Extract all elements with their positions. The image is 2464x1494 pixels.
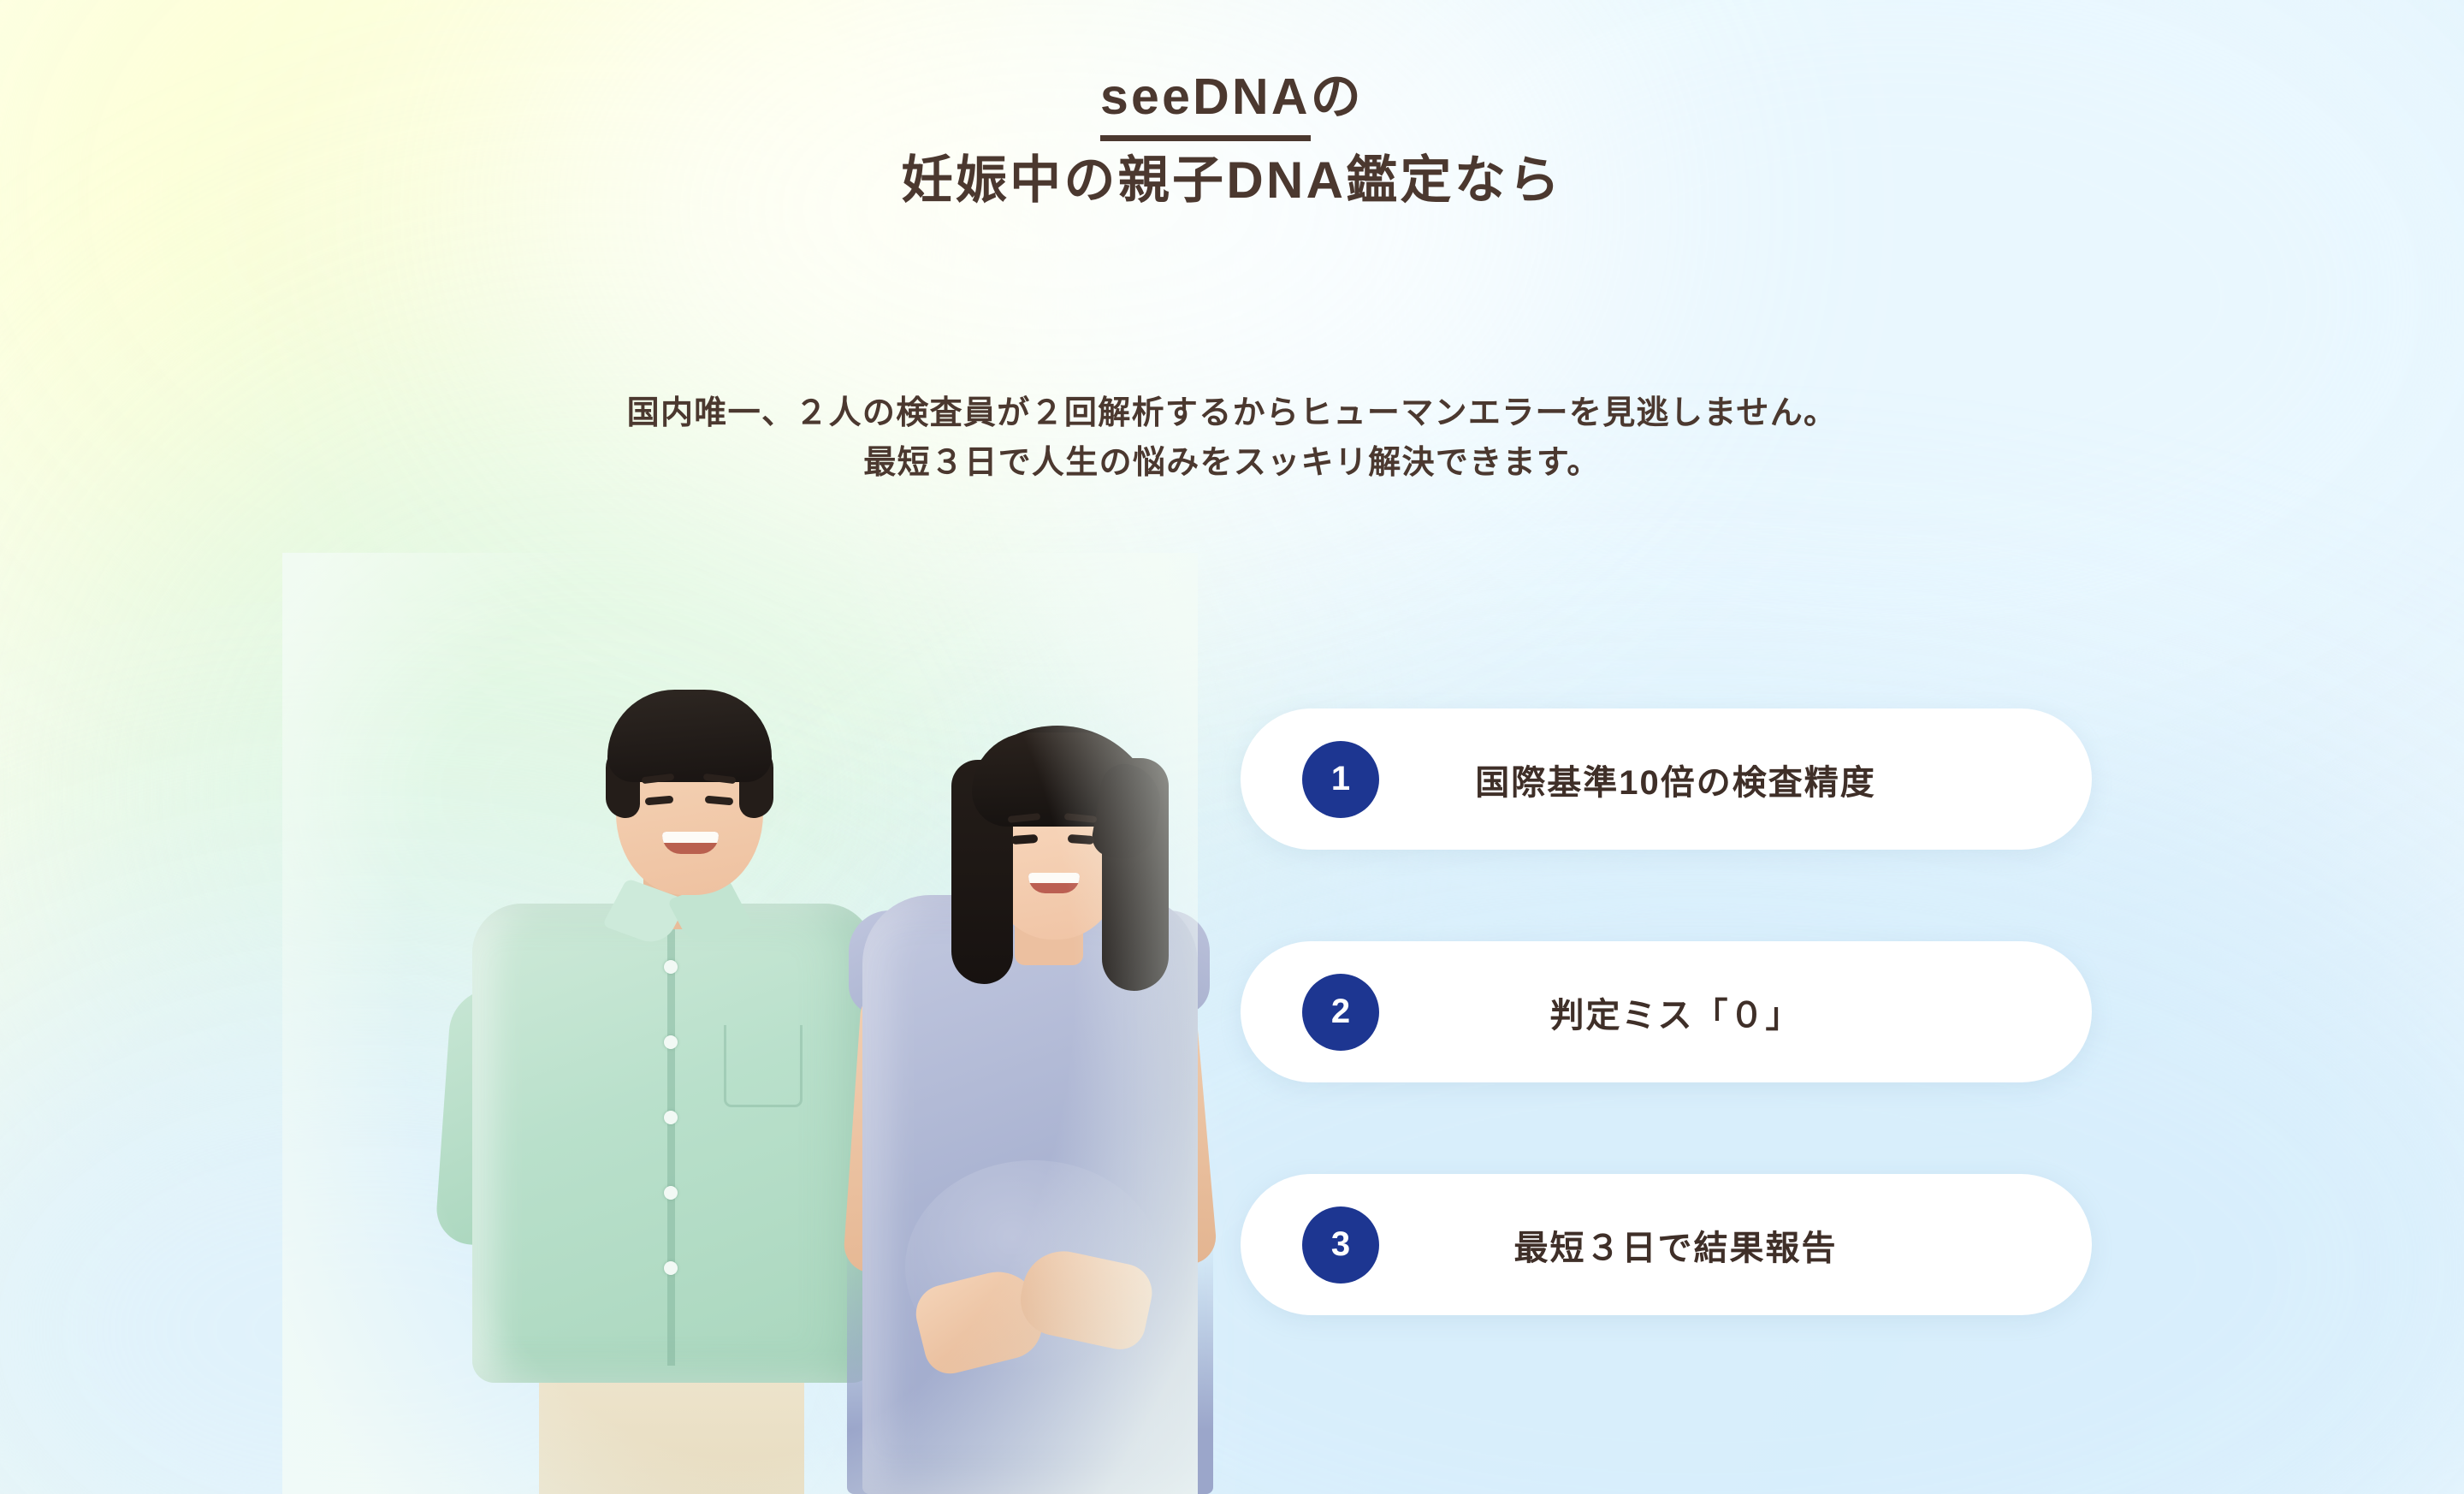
hero-subtitle: 国内唯一、２人の検査員が２回解析するからヒューマンエラーを見逃しません。 最短３… [0,389,2464,489]
feature-number-badge-3: 3 [1302,1206,1379,1284]
woman-mouth [1028,873,1080,893]
brand-suffix: の [1311,68,1364,125]
man-shirt-pocket [724,1025,803,1107]
feature-number-badge-1: 1 [1302,741,1379,818]
man-shirt-button [664,1111,678,1124]
feature-pill-3[interactable]: 3 最短３日で結果報告 [1241,1174,2092,1315]
man-hair [607,690,772,782]
man-shirt-button [664,960,678,974]
woman-eye-left [1011,834,1039,845]
feature-list: 1 国際基準10倍の検査精度 2 判定ミス「０」 3 最短３日で結果報告 [1241,708,2092,1315]
man-shirt-button [664,1261,678,1275]
feature-pill-2[interactable]: 2 判定ミス「０」 [1241,941,2092,1082]
hero-headline: seeDNAの 妊娠中の親子DNA鑑定なら [0,72,2464,206]
brand-name-seedna: seeDNA [1100,68,1311,141]
feature-pill-1[interactable]: 1 国際基準10倍の検査精度 [1241,708,2092,850]
man-shirt-button [664,1035,678,1049]
headline-line-1: seeDNAの [0,72,2464,122]
headline-line-2: 妊娠中の親子DNA鑑定なら [0,155,2464,206]
woman-eye-right [1068,834,1095,845]
feature-label-3: 最短３日で結果報告 [1379,1220,2092,1270]
couple-photo [282,553,1198,1494]
man-shirt-button [664,1186,678,1200]
feature-label-1: 国際基準10倍の検査精度 [1379,755,2092,804]
man-mouth [662,832,719,854]
subtitle-line-1: 国内唯一、２人の検査員が２回解析するからヒューマンエラーを見逃しません。 [0,389,2464,439]
woman-teeth [1028,873,1080,883]
man-teeth [662,832,719,843]
feature-label-2: 判定ミス「０」 [1379,987,2092,1037]
feature-number-badge-2: 2 [1302,974,1379,1051]
man-shirt-placket [667,921,675,1366]
subtitle-line-2: 最短３日で人生の悩みをスッキリ解決できます。 [0,439,2464,489]
